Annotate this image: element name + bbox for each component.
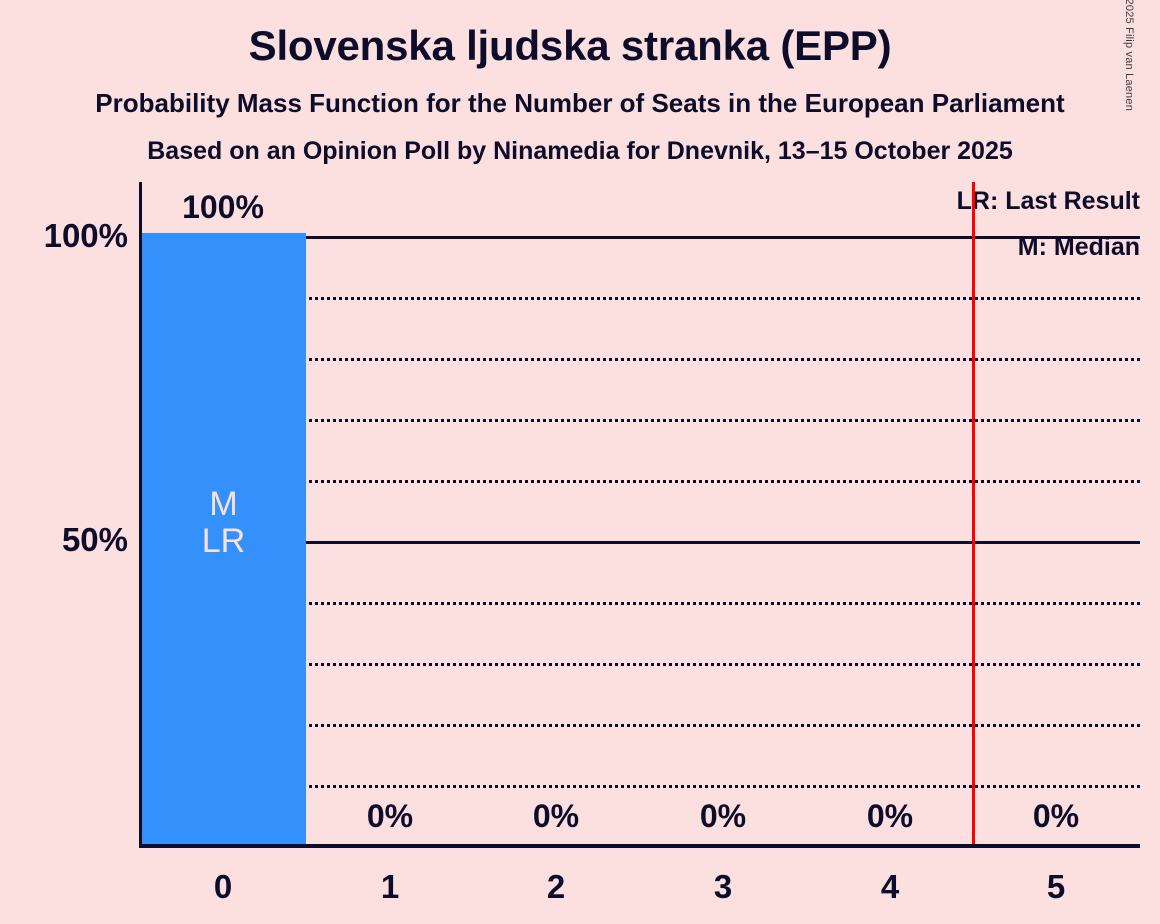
x-tick-label-0: 0 <box>163 868 283 906</box>
chart-source-line: Based on an Opinion Poll by Ninamedia fo… <box>0 137 1160 166</box>
marker-median: M <box>141 487 306 522</box>
plot-area: M LR <box>139 182 1140 847</box>
last-result-line <box>972 182 975 847</box>
page-title: Slovenska ljudska stranka (EPP) <box>0 22 1140 70</box>
x-axis <box>139 844 1140 848</box>
y-axis <box>139 182 142 847</box>
x-tick-label-3: 3 <box>663 868 783 906</box>
y-tick-label-50: 50% <box>0 521 128 559</box>
chart-subtitle: Probability Mass Function for the Number… <box>0 88 1160 119</box>
x-tick-label-1: 1 <box>330 868 450 906</box>
x-tick-label-2: 2 <box>496 868 616 906</box>
marker-last-result: LR <box>141 524 306 559</box>
copyright-notice: © 2025 Filip van Laenen <box>1123 0 1135 137</box>
y-tick-label-100: 100% <box>0 217 128 255</box>
chart-root: Slovenska ljudska stranka (EPP) Probabil… <box>0 0 1160 924</box>
x-tick-label-5: 5 <box>996 868 1116 906</box>
x-tick-label-4: 4 <box>830 868 950 906</box>
